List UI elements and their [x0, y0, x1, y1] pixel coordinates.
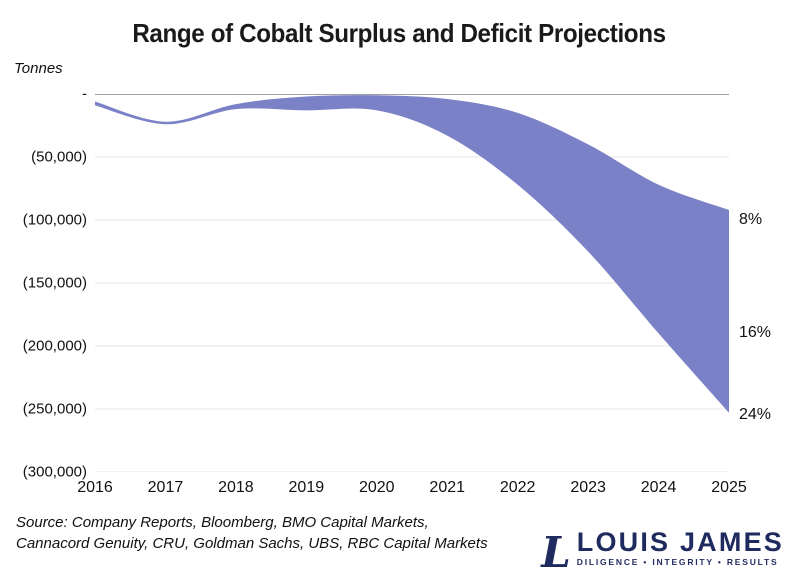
plot-area — [95, 94, 729, 472]
source-note: Source: Company Reports, Bloomberg, BMO … — [16, 512, 488, 554]
percent-annotation: 8% — [739, 211, 762, 229]
x-tick-label: 2021 — [429, 479, 465, 497]
percent-annotation: 24% — [739, 406, 771, 424]
x-tick-label: 2024 — [641, 479, 677, 497]
range-band-path — [95, 95, 729, 413]
y-tick-label: - — [82, 86, 87, 103]
chart-title: Range of Cobalt Surplus and Deficit Proj… — [28, 18, 770, 49]
x-axis-tick-labels: 2016201720182019202020212022202320242025 — [0, 479, 798, 505]
x-tick-label: 2018 — [218, 479, 254, 497]
logo-tagline: DILIGENCE • INTEGRITY • RESULTS — [577, 556, 779, 568]
percent-annotation: 16% — [739, 324, 771, 342]
y-tick-label: (150,000) — [23, 275, 87, 292]
y-tick-label: (100,000) — [23, 212, 87, 229]
x-tick-label: 2020 — [359, 479, 395, 497]
x-tick-label: 2016 — [77, 479, 113, 497]
x-tick-label: 2023 — [570, 479, 606, 497]
logo-script-l-icon: L — [541, 534, 571, 572]
logo-company-name: LOUIS JAMES — [577, 528, 784, 556]
x-tick-label: 2017 — [148, 479, 184, 497]
y-tick-label: (50,000) — [31, 149, 87, 166]
x-tick-label: 2025 — [711, 479, 747, 497]
y-tick-label: (200,000) — [23, 338, 87, 355]
x-tick-label: 2019 — [289, 479, 325, 497]
y-tick-label: (300,000) — [23, 464, 87, 481]
x-tick-label: 2022 — [500, 479, 536, 497]
y-tick-label: (250,000) — [23, 401, 87, 418]
chart-figure: Range of Cobalt Surplus and Deficit Proj… — [0, 0, 798, 580]
logo-text-block: LOUIS JAMES DILIGENCE • INTEGRITY • RESU… — [577, 528, 784, 568]
brand-logo: L LOUIS JAMES DILIGENCE • INTEGRITY • RE… — [541, 528, 784, 568]
area-band-svg — [95, 94, 729, 472]
